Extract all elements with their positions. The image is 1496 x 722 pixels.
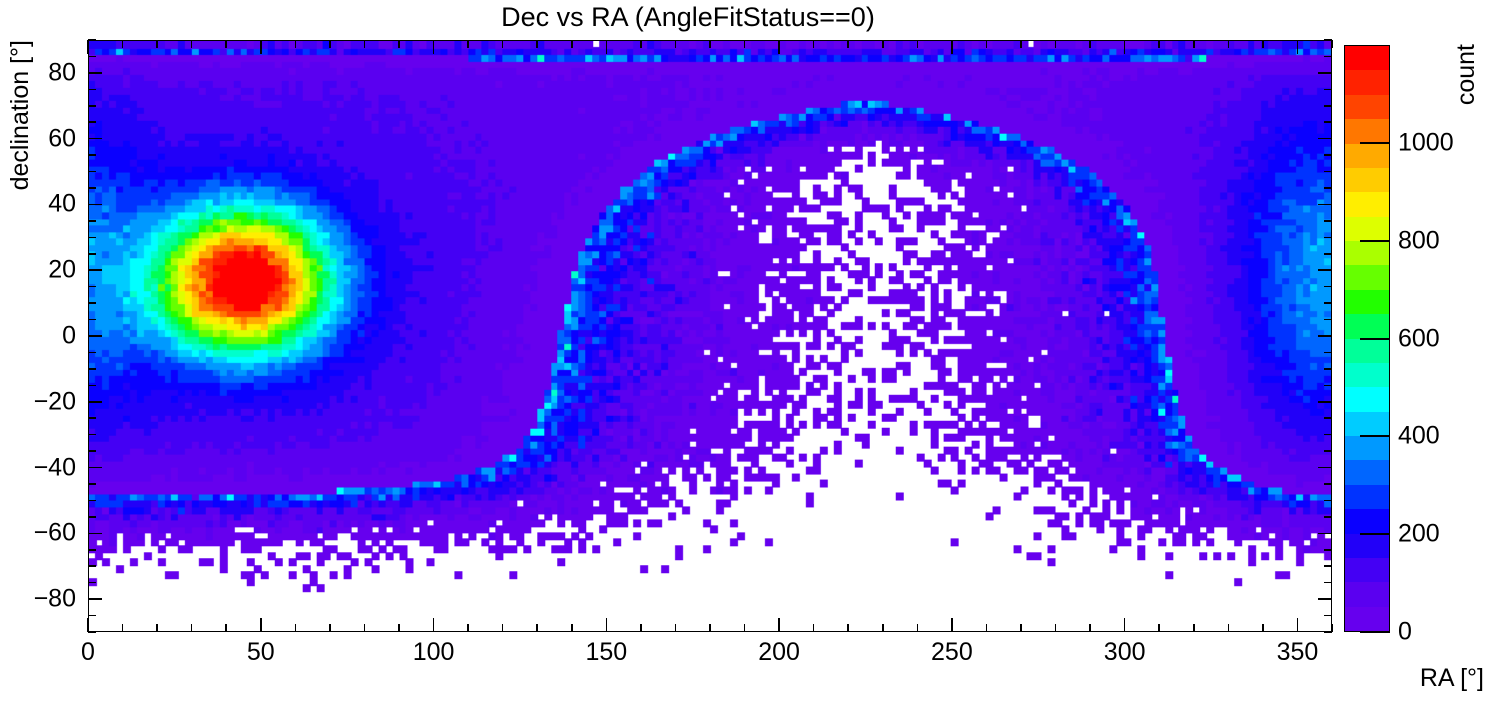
color-scale-label: 600 <box>1398 324 1440 353</box>
heatmap-image <box>89 41 1331 631</box>
y-tick-right <box>1324 171 1332 173</box>
x-tick-top <box>329 40 331 48</box>
y-tick <box>88 385 96 387</box>
color-band <box>1345 363 1389 387</box>
x-tick <box>1089 624 1091 632</box>
x-tick-top <box>536 40 538 48</box>
x-tick <box>467 624 469 632</box>
x-tick <box>156 624 158 632</box>
x-tick-top <box>225 40 227 48</box>
y-tick-right <box>1318 204 1332 206</box>
y-tick-right <box>1318 72 1332 74</box>
x-tick-top <box>260 40 262 54</box>
y-tick-right <box>1324 434 1332 436</box>
y-tick <box>88 500 96 502</box>
color-band <box>1345 485 1389 509</box>
y-tick-right <box>1324 385 1332 387</box>
color-band <box>1345 241 1389 265</box>
color-scale-tick <box>1360 142 1390 144</box>
y-tick-right <box>1324 89 1332 91</box>
y-tick <box>88 582 96 584</box>
y-tick <box>88 171 96 173</box>
x-tick-top <box>87 40 89 54</box>
y-tick-right <box>1324 549 1332 551</box>
y-tick-right <box>1324 286 1332 288</box>
y-tick <box>88 154 96 156</box>
x-tick <box>744 624 746 632</box>
y-tick-label: −20 <box>0 387 76 416</box>
y-axis-title: declination [°] <box>6 40 35 190</box>
x-tick-top <box>1331 40 1333 48</box>
color-scale-label: 800 <box>1398 226 1440 255</box>
x-tick-top <box>640 40 642 48</box>
y-tick-right <box>1324 352 1332 354</box>
y-tick-label: −80 <box>0 585 76 614</box>
y-tick-right <box>1318 335 1332 337</box>
y-tick-right <box>1324 105 1332 107</box>
y-tick-right <box>1324 368 1332 370</box>
x-tick-top <box>1297 40 1299 54</box>
x-tick <box>571 624 573 632</box>
color-band <box>1345 46 1389 70</box>
y-tick-right <box>1324 615 1332 617</box>
x-tick-top <box>1020 40 1022 48</box>
color-band <box>1345 95 1389 119</box>
x-tick-top <box>951 40 953 54</box>
y-tick <box>88 39 96 41</box>
y-tick-right <box>1324 483 1332 485</box>
x-tick <box>606 618 608 632</box>
color-band <box>1345 412 1389 436</box>
y-tick-right <box>1318 269 1332 271</box>
x-tick <box>536 624 538 632</box>
x-tick <box>917 624 919 632</box>
y-tick <box>88 204 102 206</box>
x-tick <box>87 618 89 632</box>
color-scale-label: 200 <box>1398 520 1440 549</box>
x-tick-top <box>1228 40 1230 48</box>
y-tick-label: −60 <box>0 519 76 548</box>
y-tick <box>88 516 96 518</box>
y-tick <box>88 302 96 304</box>
y-tick-right <box>1324 154 1332 156</box>
y-tick-label: −40 <box>0 453 76 482</box>
x-tick-top <box>709 40 711 48</box>
color-band <box>1345 314 1389 338</box>
color-band <box>1345 265 1389 289</box>
color-band <box>1345 607 1389 631</box>
x-tick-label: 200 <box>758 638 800 667</box>
y-tick <box>88 56 96 58</box>
x-tick-top <box>1089 40 1091 48</box>
y-tick-right <box>1324 237 1332 239</box>
y-tick-right <box>1324 500 1332 502</box>
y-tick-right <box>1324 631 1332 633</box>
y-tick <box>88 220 96 222</box>
x-tick-top <box>571 40 573 48</box>
x-tick <box>640 624 642 632</box>
y-tick <box>88 533 102 535</box>
y-tick-right <box>1324 39 1332 41</box>
x-tick <box>1262 624 1264 632</box>
x-tick-top <box>813 40 815 48</box>
color-band <box>1345 436 1389 460</box>
x-tick-top <box>847 40 849 48</box>
x-tick <box>433 618 435 632</box>
y-tick <box>88 237 96 239</box>
x-tick-top <box>917 40 919 48</box>
x-tick-top <box>778 40 780 54</box>
y-tick-right <box>1324 220 1332 222</box>
x-tick <box>986 624 988 632</box>
color-band <box>1345 509 1389 533</box>
x-tick-label: 150 <box>585 638 627 667</box>
y-tick <box>88 598 102 600</box>
y-tick-right <box>1324 450 1332 452</box>
y-tick-right <box>1318 138 1332 140</box>
y-tick <box>88 253 96 255</box>
color-scale-title: count <box>1452 44 1481 105</box>
color-scale-label: 400 <box>1398 422 1440 451</box>
y-tick <box>88 105 96 107</box>
x-tick-top <box>744 40 746 48</box>
color-band <box>1345 339 1389 363</box>
color-band <box>1345 387 1389 411</box>
x-tick <box>398 624 400 632</box>
x-tick <box>675 624 677 632</box>
x-tick-label: 50 <box>247 638 275 667</box>
y-tick <box>88 319 96 321</box>
x-tick <box>1297 618 1299 632</box>
x-tick <box>709 624 711 632</box>
x-tick <box>951 618 953 632</box>
y-tick <box>88 615 96 617</box>
color-scale-label: 0 <box>1398 618 1412 647</box>
color-band <box>1345 558 1389 582</box>
y-tick-right <box>1324 565 1332 567</box>
y-tick <box>88 417 96 419</box>
y-tick <box>88 450 96 452</box>
color-scale-tick <box>1360 338 1390 340</box>
y-tick <box>88 368 96 370</box>
x-tick <box>1055 624 1057 632</box>
y-tick <box>88 72 102 74</box>
y-tick-right <box>1324 582 1332 584</box>
y-tick <box>88 483 96 485</box>
x-tick-top <box>1055 40 1057 48</box>
y-tick <box>88 89 96 91</box>
y-tick <box>88 269 102 271</box>
y-tick-right <box>1324 302 1332 304</box>
y-tick-right <box>1318 598 1332 600</box>
y-tick <box>88 121 96 123</box>
y-tick-right <box>1324 319 1332 321</box>
x-tick-top <box>1262 40 1264 48</box>
y-tick <box>88 565 96 567</box>
x-tick <box>1124 618 1126 632</box>
y-tick-right <box>1324 417 1332 419</box>
color-band <box>1345 119 1389 143</box>
x-tick <box>225 624 227 632</box>
color-band <box>1345 144 1389 168</box>
y-tick <box>88 434 96 436</box>
y-tick <box>88 187 96 189</box>
x-tick <box>122 624 124 632</box>
x-tick <box>1020 624 1022 632</box>
y-tick-right <box>1318 533 1332 535</box>
x-tick-top <box>398 40 400 48</box>
y-tick-right <box>1318 401 1332 403</box>
x-tick-top <box>606 40 608 54</box>
x-tick <box>364 624 366 632</box>
y-tick-right <box>1318 467 1332 469</box>
x-tick-label: 100 <box>413 638 455 667</box>
y-tick <box>88 335 102 337</box>
y-tick <box>88 467 102 469</box>
color-band <box>1345 70 1389 94</box>
x-tick <box>191 624 193 632</box>
x-tick-label: 300 <box>1104 638 1146 667</box>
x-tick <box>329 624 331 632</box>
y-tick <box>88 631 96 633</box>
y-tick <box>88 549 96 551</box>
x-tick-top <box>364 40 366 48</box>
y-tick-label: 0 <box>0 322 76 351</box>
x-tick-label: 250 <box>931 638 973 667</box>
x-tick <box>1193 624 1195 632</box>
color-band <box>1345 192 1389 216</box>
color-scale-tick <box>1360 533 1390 535</box>
x-tick-label: 350 <box>1277 638 1319 667</box>
color-band <box>1345 534 1389 558</box>
x-tick <box>813 624 815 632</box>
x-tick-top <box>1124 40 1126 54</box>
color-scale-tick <box>1360 435 1390 437</box>
color-band <box>1345 217 1389 241</box>
x-tick-label: 0 <box>81 638 95 667</box>
y-tick <box>88 286 96 288</box>
y-tick-right <box>1324 253 1332 255</box>
y-tick <box>88 138 102 140</box>
page-title: Dec vs RA (AngleFitStatus==0) <box>0 2 1376 33</box>
plot-frame <box>88 40 1332 632</box>
plot-canvas: Dec vs RA (AngleFitStatus==0) 0501001502… <box>0 0 1496 722</box>
color-scale-label: 1000 <box>1398 128 1454 157</box>
y-tick-right <box>1324 187 1332 189</box>
x-tick <box>260 618 262 632</box>
color-band <box>1345 582 1389 606</box>
x-tick-top <box>502 40 504 48</box>
color-scale-tick <box>1360 240 1390 242</box>
x-tick <box>502 624 504 632</box>
y-tick <box>88 401 102 403</box>
color-band <box>1345 290 1389 314</box>
x-tick-top <box>986 40 988 48</box>
y-tick-right <box>1324 516 1332 518</box>
color-band <box>1345 168 1389 192</box>
color-scale-tick <box>1360 631 1390 633</box>
y-tick-right <box>1324 121 1332 123</box>
x-tick-top <box>1193 40 1195 48</box>
x-tick-top <box>1158 40 1160 48</box>
x-tick-top <box>156 40 158 48</box>
y-tick-label: 40 <box>0 190 76 219</box>
y-tick-label: 20 <box>0 256 76 285</box>
x-tick <box>1158 624 1160 632</box>
x-tick-top <box>882 40 884 48</box>
x-tick <box>847 624 849 632</box>
x-axis-title: RA [°] <box>1420 664 1484 693</box>
color-band <box>1345 460 1389 484</box>
x-tick-top <box>122 40 124 48</box>
x-tick <box>882 624 884 632</box>
x-tick <box>1228 624 1230 632</box>
x-tick-top <box>191 40 193 48</box>
x-tick-top <box>467 40 469 48</box>
x-tick <box>295 624 297 632</box>
x-tick-top <box>675 40 677 48</box>
y-tick <box>88 352 96 354</box>
y-tick-right <box>1324 56 1332 58</box>
x-tick <box>778 618 780 632</box>
x-tick-top <box>433 40 435 54</box>
x-tick-top <box>295 40 297 48</box>
